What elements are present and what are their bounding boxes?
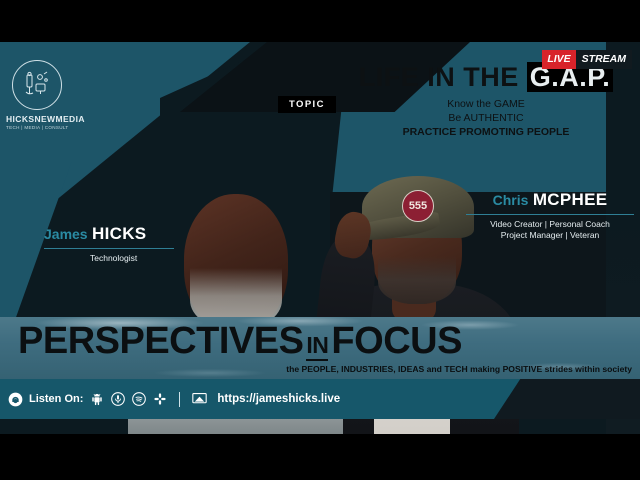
show-tagline: Know the GAME Be AUTHENTIC PRACTICE PROM… [352,97,620,139]
apple-podcasts-icon[interactable] [110,392,125,407]
tagline-line-1: Know the GAME [352,97,620,111]
hicks-last-name: HICKS [92,224,146,243]
show-banner: PERSPECTIVESINFOCUS the PEOPLE, INDUSTRI… [0,317,640,379]
nameplate-james-hicks: James HICKS Technologist [44,224,224,264]
mcphee-last-name: MCPHEE [533,190,608,209]
listen-on-label: Listen On: [29,393,83,405]
mcphee-name-line: Chris MCPHEE [462,190,638,210]
mcphee-beard [378,256,456,304]
video-frame: HICKSNEWMEDIA TECH | MEDIA | CONSULT RIP… [0,42,640,434]
banner-subtitle: the PEOPLE, INDUSTRIES, IDEAS and TECH m… [286,364,632,374]
topic-label: TOPIC [278,96,336,113]
tagline-line-2: Be AUTHENTIC [352,111,620,125]
anchor-fm-icon[interactable] [152,392,167,407]
website-url[interactable]: https://jameshicks.live [217,393,340,405]
brand-tagline: TECH | MEDIA | CONSULT [6,125,68,130]
live-badge-live: LIVE [542,50,575,69]
broadcast-screenshot: HICKSNEWMEDIA TECH | MEDIA | CONSULT RIP… [0,0,640,480]
hicks-name-line: James HICKS [44,224,224,244]
brand-logo-block: HICKSNEWMEDIA TECH | MEDIA | CONSULT [6,60,68,130]
mcphee-role-line-1: Video Creator | Personal Coach [462,219,638,230]
banner-title-part-1: PERSPECTIVES [18,320,303,362]
android-podcast-icon[interactable] [89,392,104,407]
banner-title-part-2: IN [306,332,328,361]
hicks-first-name: James [44,226,88,242]
live-stream-badge: LIVE STREAM [542,50,632,69]
mcphee-role-line-2: Project Manager | Veteran [462,230,638,241]
hicks-role: Technologist [90,253,224,264]
mcphee-cap-logo: 555 [402,190,434,222]
headphones-avatar-icon [8,392,23,407]
letterbox-bottom [0,434,640,480]
banner-title-part-3: FOCUS [331,320,462,362]
brand-name: HICKSNEWMEDIA [6,114,68,124]
listen-on-group: Listen On: [8,392,340,407]
spotify-icon[interactable] [131,392,146,407]
show-title-block: LIFE IN THE G.A.P. Know the GAME Be AUTH… [352,62,620,139]
monitor-screen-icon [192,392,207,407]
mcphee-nameplate-rule [466,214,634,215]
nameplate-chris-mcphee: Chris MCPHEE Video Creator | Personal Co… [462,190,638,241]
banner-title: PERSPECTIVESINFOCUS [18,319,628,367]
show-title-prefix: LIFE IN THE [359,62,527,92]
live-badge-stream: STREAM [576,50,632,69]
hicksnewmedia-logo-icon [12,60,62,110]
tagline-line-3: PRACTICE PROMOTING PEOPLE [352,125,620,139]
infobar-divider [179,392,180,407]
letterbox-top [0,0,640,42]
hicks-nameplate-rule [44,248,174,249]
mcphee-first-name: Chris [493,192,529,208]
